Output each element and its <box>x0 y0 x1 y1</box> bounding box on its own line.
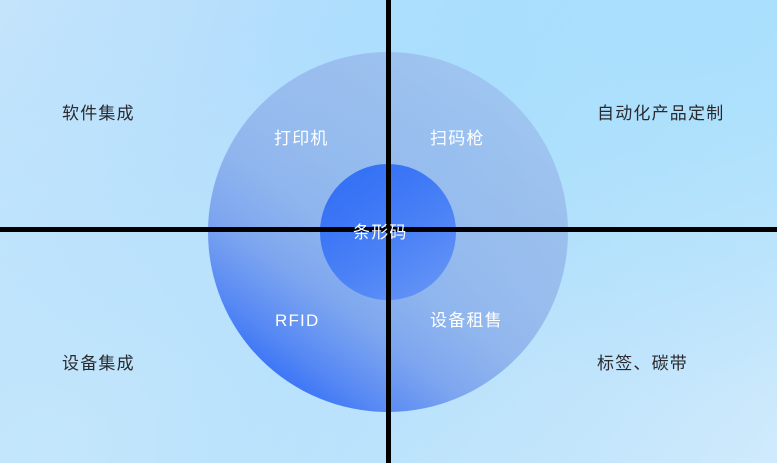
ring-label-top-right: 扫码枪 <box>430 130 485 147</box>
core-label: 条形码 <box>353 224 408 241</box>
diagram-canvas: 软件集成 自动化产品定制 设备集成 标签、碳带 打印机 扫码枪 RFID 设备租… <box>0 0 777 463</box>
outer-label-bottom-right: 标签、碳带 <box>597 355 688 372</box>
outer-label-bottom-left: 设备集成 <box>62 355 135 372</box>
outer-label-top-right: 自动化产品定制 <box>597 105 724 122</box>
ring-label-bottom-left: RFID <box>275 312 319 329</box>
ring-label-bottom-right: 设备租售 <box>430 312 503 329</box>
outer-label-top-left: 软件集成 <box>62 105 135 122</box>
ring-label-top-left: 打印机 <box>274 130 329 147</box>
